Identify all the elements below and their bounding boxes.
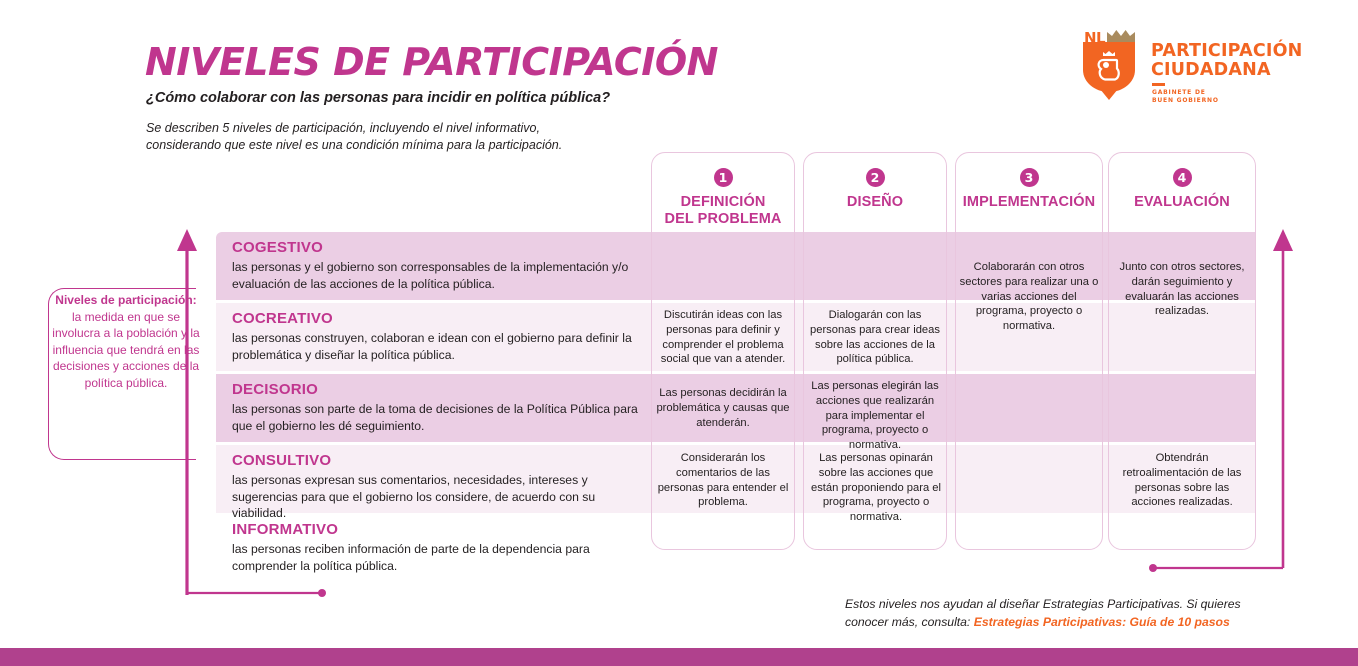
column-number-4: 4 (1173, 168, 1192, 187)
logo-tagline-line-2: BUEN GOBIERNO (1152, 97, 1219, 104)
cell-r4-c1: Considerarán los comentarios de las pers… (655, 451, 791, 510)
logo-name-line-2: CIUDADANA (1151, 60, 1271, 80)
cell-r2-c2: Dialogarán con las personas para crear i… (807, 308, 943, 367)
row-name-5: INFORMATIVO (232, 521, 652, 538)
level-note-body: la medida en que se involucra a la pobla… (52, 310, 199, 390)
page-subtitle: ¿Cómo colaborar con las personas para in… (146, 90, 610, 106)
row-label-decisorio: DECISORIO las personas son parte de la t… (232, 381, 642, 434)
page-title: NIVELES DE PARTICIPACIÓN (145, 40, 718, 84)
cell-r1-c4: Junto con otros sectores, darán seguimie… (1112, 260, 1252, 319)
column-title-1-line-1: DEFINICIÓN (681, 194, 766, 210)
logo-wordmark: PARTICIPACIÓN CIUDADANA (1151, 42, 1303, 80)
logo-tagline: GABINETE DE BUEN GOBIERNO (1152, 89, 1219, 104)
column-title-1-line-2: DEL PROBLEMA (665, 211, 782, 227)
column-title-2: DISEÑO (803, 194, 947, 211)
row-description-2: las personas construyen, colaboran e ide… (232, 330, 642, 363)
row-label-informativo: INFORMATIVO las personas reciben informa… (232, 521, 652, 574)
row-description-4: las personas expresan sus comentarios, n… (232, 472, 652, 522)
cell-r1-c3: Colaborarán con otros sectores para real… (959, 260, 1099, 334)
logo-divider (1152, 83, 1165, 86)
cell-r2-c1: Discutirán ideas con las personas para d… (655, 308, 791, 367)
column-number-2: 2 (866, 168, 885, 187)
row-name-2: COCREATIVO (232, 310, 642, 327)
row-description-5: las personas reciben información de part… (232, 541, 652, 574)
row-label-consultivo: CONSULTIVO las personas expresan sus com… (232, 452, 652, 522)
intro-paragraph: Se describen 5 niveles de participación,… (146, 120, 766, 154)
row-label-cocreativo: COCREATIVO las personas construyen, cola… (232, 310, 642, 363)
row-label-cogestivo: COGESTIVO las personas y el gobierno son… (232, 239, 642, 292)
column-number-1: 1 (714, 168, 733, 187)
footer-note: Estos niveles nos ayudan al diseñar Estr… (845, 595, 1275, 631)
cell-r4-c2: Las personas opinarán sobre las acciones… (805, 451, 947, 525)
row-description-1: las personas y el gobierno son correspon… (232, 259, 642, 292)
shield-emblem-icon (1095, 50, 1123, 84)
row-description-3: las personas son parte de la toma de dec… (232, 401, 642, 434)
crown-icon (1107, 30, 1135, 42)
level-note-heading: Niveles de participación: (55, 293, 196, 307)
logo-name-line-1: PARTICIPACIÓN (1151, 41, 1303, 61)
column-header-3: 3 IMPLEMENTACIÓN (955, 168, 1103, 211)
column-header-4: 4 EVALUACIÓN (1108, 168, 1256, 211)
row-name-1: COGESTIVO (232, 239, 642, 256)
bottom-accent-bar (0, 648, 1358, 666)
cell-r3-c1: Las personas decidirán la problemática y… (655, 386, 791, 430)
logo-tagline-line-1: GABINETE DE (1152, 89, 1206, 96)
shield-tip (1100, 89, 1118, 100)
logo: NL PARTICIPACIÓN CIUDADANA GABINETE DE B… (1083, 30, 1283, 100)
column-header-1: 1 DEFINICIÓN DEL PROBLEMA (651, 168, 795, 228)
footer-link[interactable]: Estrategias Participativas: Guía de 10 p… (974, 615, 1230, 629)
nl-shield-icon: NL (1083, 42, 1135, 100)
column-title-1: DEFINICIÓN DEL PROBLEMA (651, 194, 795, 228)
column-title-4: EVALUACIÓN (1108, 194, 1256, 211)
intro-line-1: Se describen 5 niveles de participación,… (146, 121, 540, 135)
intro-line-2: considerando que este nivel es una condi… (146, 138, 562, 152)
cell-r3-c2: Las personas elegirán las acciones que r… (807, 379, 943, 453)
footer-line-1: Estos niveles nos ayudan al diseñar Estr… (845, 597, 1241, 611)
infographic-canvas: NIVELES DE PARTICIPACIÓN ¿Cómo colaborar… (0, 0, 1358, 666)
row-name-4: CONSULTIVO (232, 452, 652, 469)
column-card-3[interactable] (955, 152, 1103, 550)
cell-r4-c4: Obtendrán retroalimentación de las perso… (1112, 451, 1252, 510)
footer-line-2: conocer más, consulta: (845, 615, 970, 629)
column-title-3: IMPLEMENTACIÓN (955, 194, 1103, 211)
row-name-3: DECISORIO (232, 381, 642, 398)
column-number-3: 3 (1020, 168, 1039, 187)
level-note: Niveles de participación: la medida en q… (52, 292, 200, 391)
column-header-2: 2 DISEÑO (803, 168, 947, 211)
